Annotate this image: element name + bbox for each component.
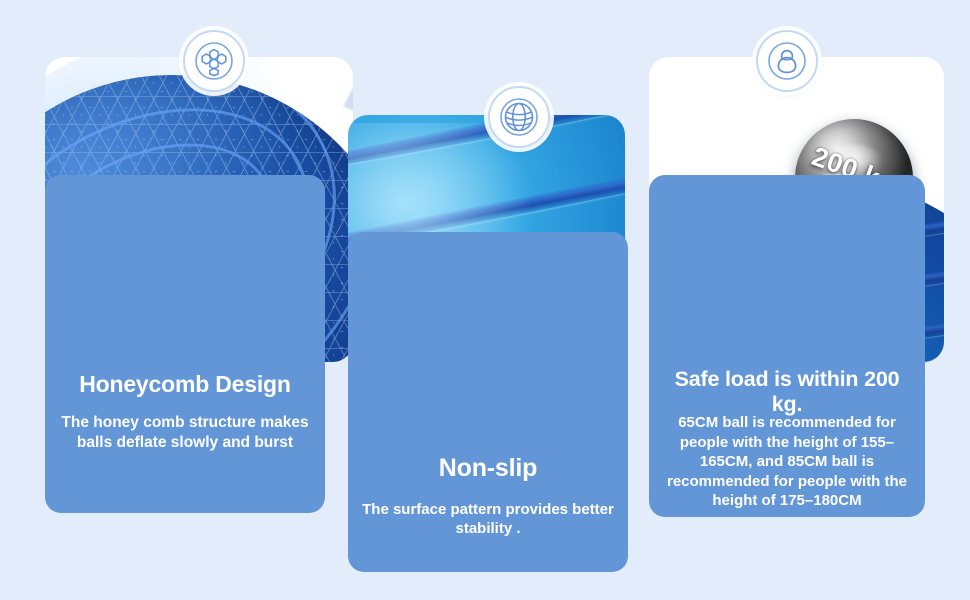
infographic-stage: Honeycomb Design The honey comb structur… [0, 0, 970, 600]
kettlebell-icon [756, 30, 818, 92]
feature-title-honeycomb: Honeycomb Design [45, 371, 325, 397]
feature-caption-non-slip: Non-slip The surface pattern provides be… [348, 232, 628, 572]
feature-body-safe-load: 65CM ball is recommended for people with… [649, 413, 925, 511]
honeycomb-icon [183, 30, 245, 92]
feature-title-safe-load: Safe load is within 200 kg. [649, 367, 925, 416]
feature-column-non-slip: Non-slip The surface pattern provides be… [330, 0, 640, 600]
feature-column-honeycomb: Honeycomb Design The honey comb structur… [28, 0, 338, 600]
feature-title-non-slip: Non-slip [348, 454, 628, 483]
striped-ball-icon [488, 86, 550, 148]
feature-body-non-slip: The surface pattern provides better stab… [348, 500, 628, 538]
feature-caption-honeycomb: Honeycomb Design The honey comb structur… [45, 175, 325, 513]
feature-body-honeycomb: The honey comb structure makes balls def… [45, 413, 325, 453]
feature-caption-safe-load: Safe load is within 200 kg. 65CM ball is… [649, 175, 925, 517]
feature-column-safe-load: 200 kg Safe load is within 200 kg. 65CM … [630, 0, 942, 600]
